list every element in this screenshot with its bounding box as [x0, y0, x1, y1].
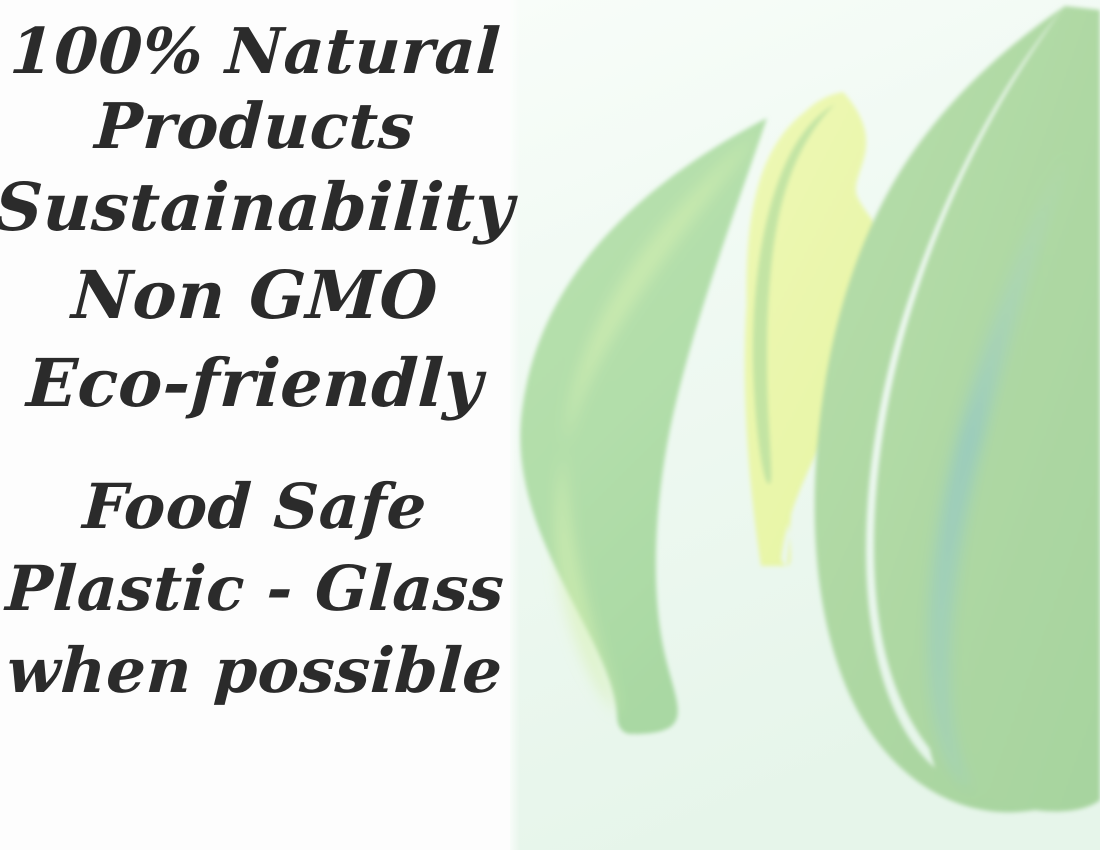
leaf-illustration-panel [505, 0, 1100, 850]
primary-claims-group: 100% Natural Products Sustainability Non… [0, 14, 510, 416]
claim-line-sustainability: Sustainability [0, 174, 516, 240]
claim-line-plastic-glass: Plastic - Glass [4, 558, 505, 620]
poster-canvas: 100% Natural Products Sustainability Non… [0, 0, 1100, 850]
claim-line-eco-friendly: Eco-friendly [25, 350, 484, 416]
claim-line-food-safe: Food Safe [81, 476, 428, 538]
claim-line-natural: 100% Natural [8, 20, 502, 83]
claim-line-when-possible: when possible [6, 640, 505, 702]
claim-line-non-gmo: Non GMO [70, 262, 439, 328]
claim-line-products: Products [94, 95, 417, 158]
claims-text-panel: 100% Natural Products Sustainability Non… [0, 0, 510, 850]
secondary-claims-group: Food Safe Plastic - Glass when possible [0, 470, 510, 702]
leaf-graphic [505, 0, 1100, 850]
